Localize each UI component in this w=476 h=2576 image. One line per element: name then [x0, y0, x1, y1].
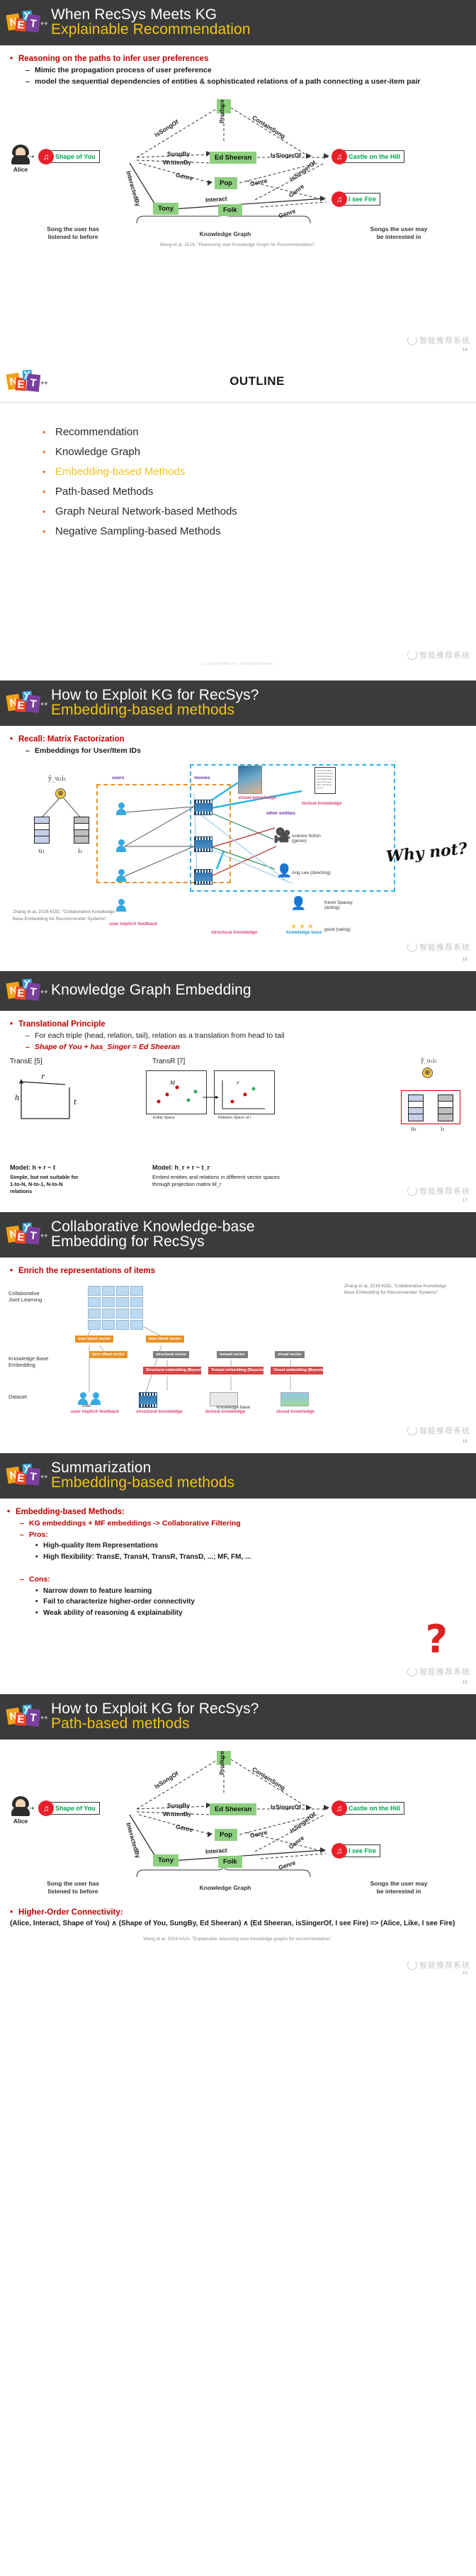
- outline-item-label: Graph Neural Network-based Methods: [55, 505, 237, 517]
- model-notes-row: Model: h + r ~ t Simple, but not suitabl…: [0, 1164, 476, 1205]
- pill-visual-embedding: Visual embedding (Bayesian SCAE): [271, 1367, 323, 1374]
- bullet-level1: • Reasoning on the paths to infer user p…: [10, 55, 466, 63]
- user-avatar-icon: [11, 1796, 30, 1816]
- bullet-level3: • High flexibility: TransE, TransH, Tran…: [35, 1552, 466, 1562]
- slide-summarization-embedding-methods: N E X T ++ Summarization Embedding-based…: [0, 1453, 476, 1687]
- kg-entity-folk: Folk: [218, 1856, 242, 1868]
- logo-letter-t: T: [26, 1226, 40, 1245]
- bullet-level2: – For each triple (head, relation, tail)…: [25, 1031, 466, 1041]
- question-mark-graphic: ?: [426, 1620, 448, 1659]
- bullet-level2: – Cons:: [20, 1574, 466, 1584]
- logo-letter-t: T: [26, 14, 40, 33]
- kg-relation-interact: Interact: [205, 1847, 227, 1855]
- slide-body: • Recall: Matrix Factorization – Embeddi…: [0, 726, 476, 760]
- bullet-text: Embeddings for User/Item IDs: [35, 746, 141, 756]
- kg-edges: [6, 92, 473, 241]
- slide-title-line1: Collaborative Knowledge-base: [51, 1219, 255, 1234]
- slide-outline: N E X T ++ OUTLINE • Recommendation • Kn…: [0, 362, 476, 673]
- entity-space-label: Entity Space: [153, 1116, 175, 1120]
- user-embedding-vector-mini: [408, 1094, 424, 1121]
- bullet-level2: – model the sequential dependencies of e…: [25, 77, 466, 86]
- item-embedding-vector-mini: [438, 1094, 453, 1121]
- movie-item-icon: [194, 869, 212, 885]
- song-label: I see Fire: [341, 193, 380, 206]
- watermark: 智能推荐系统: [407, 1425, 470, 1436]
- item-embedding-vector: [74, 817, 89, 844]
- page-number: 16: [463, 957, 467, 962]
- pill-textual-vector: textual vector: [217, 1351, 248, 1358]
- prediction-formula-mini: ŷ_u₁i₁: [421, 1058, 437, 1064]
- bullet-text: For each triple (head, relation, tail), …: [35, 1031, 285, 1041]
- kg-relation-sungby: SungBy: [167, 150, 190, 157]
- matrix-factorization-figure: ⊗ ŷ_u₁i₁: [4, 763, 472, 940]
- kevin-spacey-label: Kevin Spacey (acting): [324, 900, 368, 910]
- bullet-level1: • Translational Principle: [10, 1020, 466, 1029]
- bullet-level1: • Embedding-based Methods:: [7, 1508, 466, 1516]
- bullet-dash-icon: –: [25, 77, 35, 86]
- user-feedback-dashed-box: [96, 784, 231, 883]
- kg-song-shape-of-you: ♫ Shape of You: [38, 149, 100, 164]
- dataset-user-icon: [91, 1392, 101, 1405]
- kg-caption-center: Knowledge Graph: [183, 230, 268, 238]
- slide-exploit-kg-embedding-methods: N E X T ++ How to Exploit KG for RecSys?…: [0, 681, 476, 964]
- kg-user-label: Alice: [10, 1818, 31, 1825]
- knowledge-graph-diagram: Alice ➝ ♫ Shape of You ♫ Castle on the H…: [6, 92, 470, 241]
- logo-letter-t: T: [26, 695, 40, 713]
- logo-suffix: ++: [40, 20, 48, 27]
- kg-entity-ed-sheeran: Ed Sheeran: [210, 152, 256, 164]
- kg-entity-pop: Pop: [215, 177, 237, 189]
- kg-edges: [6, 1744, 473, 1896]
- arrow-icon: ➝: [28, 1805, 34, 1813]
- outline-item-path-based-methods[interactable]: • Path-based Methods: [42, 486, 476, 498]
- slide-body: • Embedding-based Methods: – KG embeddin…: [0, 1499, 476, 1622]
- transe-model-formula: Model: h + r ~ t: [10, 1164, 55, 1171]
- bullet-dot-icon: •: [42, 466, 55, 477]
- slide-when-recsys-meets-kg: N E X T ++ When RecSys Meets KG Explaina…: [0, 0, 476, 354]
- slide-gap: [0, 673, 476, 681]
- bullet-dot-icon: •: [7, 1508, 16, 1516]
- bullet-dash-icon: –: [20, 1518, 29, 1528]
- svg-text:M: M: [169, 1080, 176, 1086]
- music-note-icon: ♫: [38, 1801, 54, 1816]
- outline-item-negative-sampling-based-methods[interactable]: • Negative Sampling-based Methods: [42, 525, 476, 537]
- dataset-visual-icon: [280, 1392, 309, 1406]
- kg-user-label: Alice: [10, 166, 31, 173]
- bullet-dot-icon: •: [10, 1020, 18, 1029]
- bullet-dot-icon: •: [42, 506, 55, 517]
- cke-architecture-figure: Collaborative Joint Learning Knowledge B…: [4, 1280, 472, 1429]
- watermark: 智能推荐系统: [407, 1959, 470, 1971]
- music-note-icon: ♫: [331, 1801, 347, 1816]
- slide-citation: Wang et al, 2019, "Reasoning over Knowle…: [0, 241, 476, 250]
- outline-item-knowledge-graph[interactable]: • Knowledge Graph: [42, 446, 476, 458]
- bullet-text: Reasoning on the paths to infer user pre…: [18, 55, 208, 63]
- slide-title-line1: How to Exploit KG for RecSys?: [51, 688, 259, 702]
- collaborative-joint-learning-label: Collaborative Joint Learning: [8, 1290, 42, 1303]
- kg-caption-center: Knowledge Graph: [183, 1884, 268, 1892]
- rating-matrix-grid: [88, 1286, 143, 1330]
- kg-song-castle-on-the-hill: ♫ Castle on the Hill: [331, 149, 404, 164]
- kg-relation-produce: Produce: [218, 99, 225, 123]
- camera-genre-icon: 🎥: [273, 827, 291, 844]
- kg-entity-pop: Pop: [215, 1829, 237, 1841]
- logo-letter-t: T: [26, 1467, 40, 1486]
- node-label-item: item: [143, 1404, 152, 1409]
- higher-order-connectivity-formula: (Alice, Interact, Shape of You) ∧ (Shape…: [10, 1919, 466, 1930]
- dataset-label: Dataset: [8, 1394, 27, 1400]
- slide-body: • Translational Principle – For each tri…: [0, 1011, 476, 1056]
- dataset-knowledge-icon: [210, 1392, 238, 1406]
- logo-suffix: ++: [40, 379, 48, 386]
- slide-header-band: N E X T ++ Summarization Embedding-based…: [0, 1453, 476, 1499]
- textual-knowledge-label: textual knowledge: [205, 1409, 245, 1414]
- slide-body: • Reasoning on the paths to infer user p…: [0, 45, 476, 91]
- watermark-icon: [407, 1667, 417, 1676]
- watermark: 智能推荐系统: [407, 335, 470, 346]
- watermark-icon: [407, 335, 417, 345]
- knowledge-base-label: knowledge base: [286, 930, 322, 935]
- slide-gap: [0, 1205, 476, 1212]
- bullet-dot-icon: •: [35, 1552, 43, 1562]
- page-number: 18: [463, 1439, 467, 1444]
- outline-item-embedding-based-methods[interactable]: • Embedding-based Methods: [42, 466, 476, 478]
- page-number: 17: [463, 1198, 467, 1203]
- music-note-icon: ♫: [331, 1843, 347, 1859]
- watermark: 智能推荐系统: [407, 1185, 470, 1197]
- bullet-dot-icon: •: [42, 486, 55, 497]
- item-vector-label-mini: i₁: [441, 1126, 445, 1132]
- bullet-dot-icon: •: [42, 447, 55, 457]
- bullet-level2: – Pros:: [20, 1530, 466, 1540]
- rating-star-icon: ★: [307, 923, 314, 931]
- bullet-level3: • Fail to characterize higher-order conn…: [35, 1597, 466, 1607]
- transr-panel-title: TransR [7]: [152, 1058, 185, 1065]
- figure-citation: Zhang et al, 2016 KDD, "Collaborative Kn…: [344, 1283, 450, 1297]
- watermark-text: 智能推荐系统: [419, 1425, 470, 1436]
- bullet-dash-icon: –: [20, 1530, 29, 1540]
- bullet-dot-icon: •: [35, 1586, 43, 1596]
- pill-structural-vector: structural vector: [153, 1351, 189, 1358]
- outline-title: OUTLINE: [229, 374, 284, 388]
- bullet-dash-icon: –: [25, 1031, 35, 1041]
- bullet-dot-icon: •: [42, 427, 55, 437]
- bullet-level1: • Recall: Matrix Factorization: [10, 735, 466, 744]
- slide-body: • Enrich the representations of items: [0, 1258, 476, 1280]
- bullet-dot-icon: •: [42, 526, 55, 537]
- arrow-icon: ➝: [28, 153, 34, 161]
- kg-relation-sungby: SungBy: [167, 1802, 190, 1809]
- bullet-text: Translational Principle: [18, 1020, 106, 1029]
- slide-header-band: N E X T ++ How to Exploit KG for RecSys?…: [0, 681, 476, 726]
- document-icon: Life of Pi is a 2012 American adventure …: [314, 767, 336, 794]
- transe-panel-title: TransE [5]: [10, 1058, 42, 1065]
- bullet-text: Narrow down to feature learning: [43, 1586, 152, 1596]
- song-label: Castle on the Hill: [341, 1802, 404, 1815]
- pill-item-latent-vector: item latent vector: [146, 1335, 184, 1343]
- structural-knowledge-label: structural knowledge: [136, 1409, 182, 1414]
- node-label-user: user: [82, 1404, 91, 1409]
- prediction-node-mini: ⊗: [422, 1068, 433, 1078]
- bullet-dash-icon: –: [25, 1042, 35, 1052]
- bullet-text: Pros:: [29, 1530, 48, 1540]
- knowledge-base-embedding-label: Knowledge Base Embedding: [8, 1355, 48, 1368]
- slide-citation: Wang et al, 2019 AAAI, "Explainable reas…: [0, 1935, 476, 1944]
- bullet-text: High flexibility: TransE, TransH, TransR…: [43, 1552, 251, 1562]
- slide-knowledge-graph-embedding: N E X T ++ Knowledge Graph Embedding • T…: [0, 971, 476, 1205]
- logo-letter-t: T: [26, 982, 40, 1001]
- logo-suffix: ++: [40, 700, 48, 707]
- outline-item-label: Recommendation: [55, 426, 139, 438]
- other-entities-label: other entities: [266, 811, 295, 816]
- watermark-icon: [407, 1426, 417, 1435]
- logo-suffix: ++: [40, 1232, 48, 1239]
- slide-header-band: N E X T ++ How to Exploit KG for RecSys?…: [0, 1694, 476, 1740]
- watermark-icon: [407, 1960, 417, 1970]
- watermark-text: 智能推荐系统: [419, 1959, 470, 1971]
- pill-structural-embedding: Structural embedding (Bayesian TransR): [143, 1367, 201, 1374]
- kg-relation-writtenby: WrittenBy: [163, 1810, 191, 1818]
- bullet-dot-icon: •: [10, 1267, 18, 1275]
- user-embedding-vector: [34, 817, 50, 844]
- transe-vector-diagram: h r t: [14, 1069, 149, 1133]
- next-logo-icon: N E X T ++: [7, 978, 44, 1002]
- kg-song-i-see-fire: ♫ I see Fire: [331, 1843, 380, 1859]
- next-logo-icon: N E X T ++: [7, 10, 44, 34]
- slide-title-line2: Embedding for RecSys: [51, 1234, 255, 1249]
- visual-knowledge-label: visual knowledge: [276, 1409, 314, 1414]
- bullet-text: Cons:: [29, 1574, 50, 1584]
- outline-list: • Recommendation • Knowledge Graph • Emb…: [0, 403, 476, 552]
- actor-person-icon: 👤: [290, 896, 306, 911]
- watermark-text: 智能推荐系统: [419, 335, 470, 346]
- bullet-text: Weak ability of reasoning & explainabili…: [43, 1608, 183, 1618]
- bullet-text: KG embeddings + MF embeddings -> Collabo…: [29, 1518, 241, 1528]
- structural-knowledge-label: structural knowledge: [211, 930, 257, 935]
- transr-model-formula: Model: h_r + r ~ t_r: [152, 1164, 210, 1171]
- page-number: 21: [463, 1971, 467, 1976]
- users-label: users: [112, 775, 124, 780]
- kg-entity-ed-sheeran: Ed Sheeran: [210, 1803, 256, 1815]
- user-avatar-icon: [11, 145, 30, 164]
- song-label: I see Fire: [341, 1844, 380, 1857]
- next-logo-icon: N E X T ++: [7, 1463, 44, 1487]
- node-label-knowledge-base: knowledge base: [217, 1405, 250, 1410]
- watermark: 智能推荐系统: [407, 649, 470, 661]
- slide-gap: [0, 354, 476, 362]
- slide-collaborative-kb-embedding: N E X T ++ Collaborative Knowledge-base …: [0, 1212, 476, 1446]
- slide-title-line1: When RecSys Meets KG: [51, 7, 251, 22]
- movie-item-icon: [194, 836, 212, 852]
- next-logo-icon: N E X T ++: [7, 1704, 44, 1728]
- song-label: Shape of You: [48, 150, 100, 163]
- prediction-formula: ŷ_u₁i₁: [48, 775, 66, 783]
- slide-header-band: N E X T ++ OUTLINE: [0, 362, 476, 403]
- user-vector-label: u₁: [38, 848, 45, 855]
- outline-item-label: Path-based Methods: [55, 486, 153, 498]
- bullet-dash-icon: –: [25, 65, 35, 75]
- slide-title-line2: Embedding-based methods: [51, 1475, 234, 1490]
- bullet-level3: • High-quality Item Representations: [35, 1541, 466, 1551]
- movies-label: movies: [194, 775, 210, 780]
- user-icon: [116, 869, 126, 882]
- watermark-icon: [407, 942, 417, 952]
- transe-model-note: Simple, but not suitable for 1-to-N, N-t…: [10, 1174, 81, 1194]
- bullet-text: Recall: Matrix Factorization: [18, 735, 125, 744]
- bullet-dash-icon: –: [25, 746, 35, 756]
- bullet-text: Enrich the representations of items: [18, 1267, 155, 1275]
- watermark-icon: [407, 1186, 417, 1196]
- slide-header-band: N E X T ++ Knowledge Graph Embedding: [0, 971, 476, 1011]
- logo-letter-t: T: [26, 374, 40, 392]
- watermark-text: 智能推荐系统: [419, 1185, 470, 1197]
- transr-projection-diagram: M r: [146, 1070, 280, 1117]
- slide-deck: N E X T ++ When RecSys Meets KG Explaina…: [0, 0, 476, 1978]
- slide-title-line1: Knowledge Graph Embedding: [51, 982, 251, 997]
- transr-model-note: Embed entities and relations in differen…: [152, 1174, 280, 1188]
- user-icon: [116, 802, 126, 815]
- kg-caption-left: Song the user has listened to before: [34, 225, 112, 240]
- user-icon: [116, 839, 126, 852]
- bullet-dot-icon: •: [35, 1597, 43, 1607]
- outline-item-gnn-based-methods[interactable]: • Graph Neural Network-based Methods: [42, 505, 476, 517]
- textual-knowledge-label: textual knowledge: [302, 801, 341, 806]
- bullet-text: Shape of You + has_Singer = Ed Sheeran: [35, 1042, 180, 1052]
- bullet-dash-icon: –: [20, 1574, 29, 1584]
- page-number: 19: [463, 1680, 467, 1685]
- kg-entity-tony: Tony: [153, 203, 178, 215]
- bullet-dot-icon: •: [10, 735, 18, 744]
- figure-citation: Zhang et al, 2016 KDD, "Collaborative Kn…: [13, 909, 119, 922]
- pill-textual-embedding: Textual embedding (Bayesian SDAE): [208, 1367, 263, 1374]
- director-person-icon: 👤: [276, 863, 292, 878]
- watermark-text: 智能推荐系统: [419, 1666, 470, 1677]
- song-label: Shape of You: [48, 1802, 100, 1815]
- kg-relation-issingerof-1: IsSingerOf: [271, 1803, 301, 1810]
- bullet-level2-italic: – Shape of You + has_Singer = Ed Sheeran: [25, 1042, 466, 1052]
- song-label: Castle on the Hill: [341, 150, 404, 163]
- relation-space-label: Relation Space of r: [218, 1116, 251, 1120]
- kg-song-i-see-fire: ♫ I see Fire: [331, 191, 380, 207]
- user-implicit-feedback-label: user implicit feedback: [71, 1409, 119, 1414]
- movie-poster-image: [238, 766, 262, 794]
- bullet-dot-icon: •: [35, 1541, 43, 1551]
- slide-exploit-kg-path-based-methods: N E X T ++ How to Exploit KG for RecSys?…: [0, 1694, 476, 1978]
- knowledge-graph-diagram: Alice ➝ ♫ Shape of You ♫ Castle on the H…: [6, 1744, 470, 1896]
- bullet-text: High-quality Item Representations: [43, 1541, 158, 1551]
- slide-body: • Higher-Order Connectivity: (Alice, Int…: [0, 1896, 476, 1932]
- pill-visual-vector: visual vector: [275, 1351, 305, 1358]
- science-fiction-label: science fiction (genre): [292, 834, 336, 844]
- rating-star-icon: ★: [290, 923, 297, 931]
- bullet-text: Fail to characterize higher-order connec…: [43, 1597, 195, 1607]
- bullet-dot-icon: •: [35, 1608, 43, 1618]
- visual-knowledge-label: visual knowledge: [238, 795, 276, 800]
- outline-item-recommendation[interactable]: • Recommendation: [42, 426, 476, 438]
- bullet-dot-icon: •: [10, 1908, 18, 1917]
- slide-title-line2: Explainable Recommendation: [51, 22, 251, 37]
- slide-title-line1: How to Exploit KG for RecSys?: [51, 1701, 259, 1716]
- logo-suffix: ++: [40, 988, 48, 995]
- bullet-level2: – Embeddings for User/Item IDs: [25, 746, 466, 756]
- page-number: 14: [463, 347, 467, 352]
- logo-suffix: ++: [40, 1473, 48, 1480]
- slide-header-band: N E X T ++ Collaborative Knowledge-base …: [0, 1212, 476, 1258]
- slide-header-band: N E X T ++ When RecSys Meets KG Explaina…: [0, 0, 476, 45]
- rating-good-label: good (rating): [324, 927, 361, 932]
- item-vector-label: i₁: [78, 848, 83, 855]
- next-logo-icon: N E X T ++: [7, 369, 44, 393]
- bullet-text: model the sequential dependencies of ent…: [35, 77, 420, 86]
- kg-relation-writtenby: WrittenBy: [163, 159, 191, 166]
- slide-gap: [0, 964, 476, 971]
- outline-item-label: Knowledge Graph: [55, 446, 140, 458]
- copyright-notice: © Copyright NExT++. All Right Reserved.: [0, 662, 476, 666]
- slide-gap: [0, 1687, 476, 1694]
- kg-caption-right: Songs the user may be interested in: [360, 225, 438, 240]
- outline-item-label: Embedding-based Methods: [55, 466, 185, 478]
- watermark-text: 智能推荐系统: [419, 649, 470, 661]
- slide-title-line2: Embedding-based methods: [51, 702, 259, 717]
- pill-item-offset-vector: item offset vector: [89, 1351, 127, 1358]
- bullet-dot-icon: •: [10, 55, 18, 63]
- svg-text:r: r: [41, 1073, 45, 1081]
- bullet-level1: • Higher-Order Connectivity:: [10, 1908, 466, 1917]
- slide-title-line2: Path-based methods: [51, 1716, 259, 1731]
- bullet-level3: • Narrow down to feature learning: [35, 1586, 466, 1596]
- kg-relation-produce: Produce: [218, 1751, 225, 1775]
- outline-item-label: Negative Sampling-based Methods: [55, 525, 220, 537]
- user-vector-label-mini: u₁: [411, 1126, 416, 1132]
- next-logo-icon: N E X T ++: [7, 1222, 44, 1246]
- watermark-icon: [407, 650, 417, 660]
- kg-caption-left: Song the user has listened to before: [34, 1880, 112, 1895]
- kg-caption-right: Songs the user may be interested in: [360, 1880, 438, 1895]
- slide-gap: [0, 1446, 476, 1453]
- transe-transr-figure: TransE [5] TransR [7] h r t M: [7, 1058, 469, 1164]
- ang-lee-label: Ang Lee (directing): [292, 870, 336, 875]
- svg-text:t: t: [74, 1099, 77, 1107]
- bullet-text: Embedding-based Methods:: [16, 1508, 125, 1516]
- kg-entity-tony: Tony: [153, 1854, 178, 1866]
- kg-relation-issingerof-1: IsSingerOf: [271, 152, 301, 159]
- kg-song-castle-on-the-hill: ♫ Castle on the Hill: [331, 1801, 404, 1816]
- watermark-text: 智能推荐系统: [419, 941, 470, 953]
- bullet-text: Mimic the propagation process of user pr…: [35, 65, 212, 75]
- kg-song-shape-of-you: ♫ Shape of You: [38, 1801, 100, 1816]
- svg-text:r: r: [237, 1080, 239, 1086]
- next-logo-icon: N E X T ++: [7, 690, 44, 715]
- logo-letter-t: T: [26, 1708, 40, 1727]
- bullet-text: Higher-Order Connectivity:: [18, 1908, 123, 1917]
- svg-text:h: h: [15, 1094, 19, 1102]
- watermark: 智能推荐系统: [407, 1666, 470, 1677]
- kg-entity-folk: Folk: [218, 204, 242, 216]
- mf-mini-figure: ŷ_u₁i₁ ⊗ u₁ i₁: [397, 1058, 465, 1150]
- rating-star-icon: ★: [299, 923, 305, 931]
- bullet-level3: • Weak ability of reasoning & explainabi…: [35, 1608, 466, 1618]
- movie-item-icon: [194, 800, 212, 815]
- bullet-level2: – Mimic the propagation process of user …: [25, 65, 466, 75]
- bullet-level1: • Enrich the representations of items: [10, 1267, 466, 1275]
- slide-title-line1: Summarization: [51, 1460, 234, 1475]
- logo-suffix: ++: [40, 1714, 48, 1721]
- user-implicit-feedback-label: user implicit feedback: [109, 922, 157, 926]
- pill-user-latent-vector: user latent vector: [75, 1335, 113, 1343]
- watermark: 智能推荐系统: [407, 941, 470, 953]
- bullet-level2: – KG embeddings + MF embeddings -> Colla…: [20, 1518, 466, 1528]
